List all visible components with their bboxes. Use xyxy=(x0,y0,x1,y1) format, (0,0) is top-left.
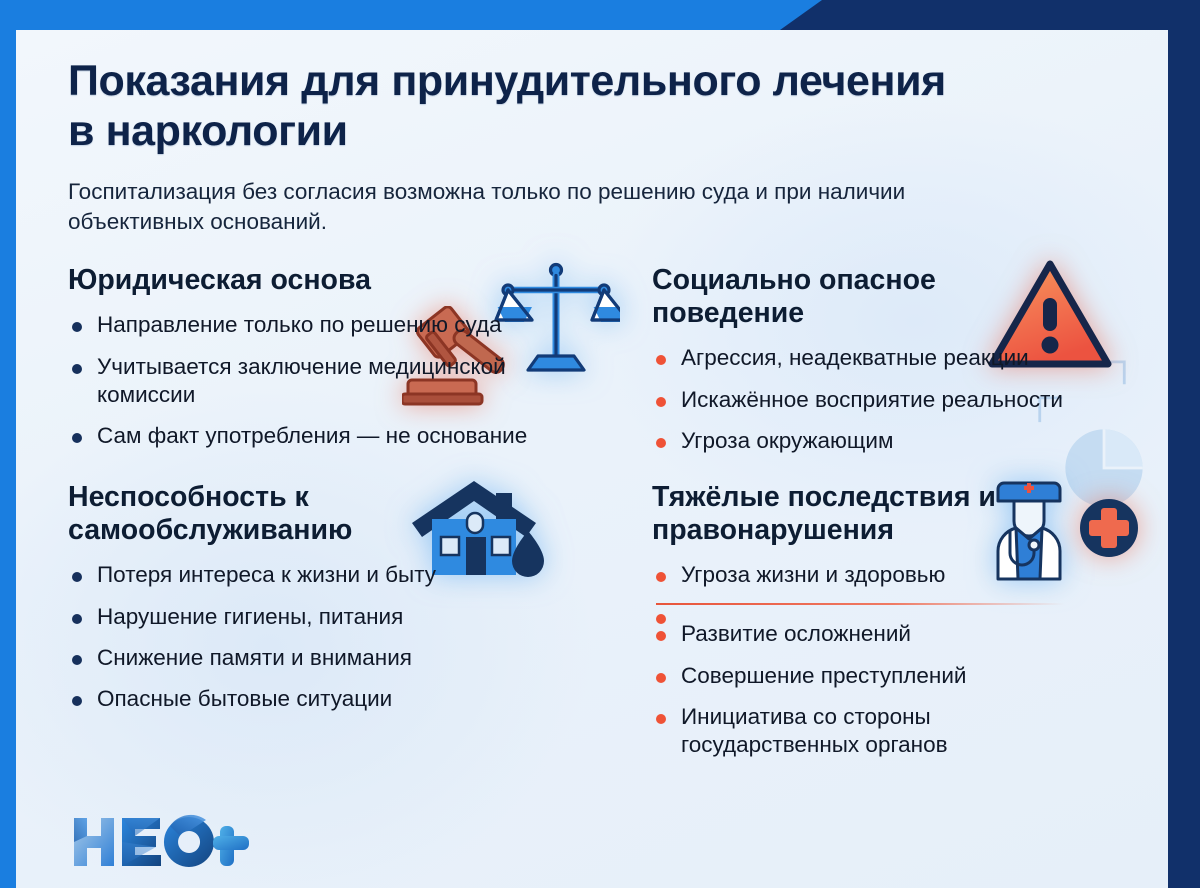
tick-mark-icon xyxy=(1074,516,1096,542)
section-divider xyxy=(652,603,1082,606)
infographic-poster: Показания для принудительного лечения в … xyxy=(0,0,1200,888)
section-bullet-list: Агрессия, неадекватные реакции Искажённо… xyxy=(652,344,1138,455)
brand-logo: НЕО+ xyxy=(70,812,250,872)
list-item: Направление только по решению суда xyxy=(68,311,557,339)
section-bullet-list: Угроза жизни и здоровью Развитие осложне… xyxy=(652,561,1138,759)
list-item: Искажённое восприятие реальности xyxy=(652,386,1111,414)
divider xyxy=(656,603,1064,606)
section-bullet-list: Потеря интереса к жизни и быту Нарушение… xyxy=(68,561,638,713)
page-title: Показания для принудительного лечения в … xyxy=(68,56,968,157)
list-item: Нарушение гигиены, питания xyxy=(68,603,557,631)
list-item: Сам факт употребления — не основание xyxy=(68,422,557,450)
poster-header: Показания для принудительного лечения в … xyxy=(16,30,1168,238)
section-heading: Социально опасное поведение xyxy=(652,264,1052,330)
section-heading: Тяжёлые последствия и правонарушения xyxy=(652,481,1072,547)
section-severe-consequences: Тяжёлые последствия и правонарушения Угр… xyxy=(652,481,1138,759)
list-item: Опасные бытовые ситуации xyxy=(68,685,557,713)
list-item: Инициатива со стороны государственных ор… xyxy=(652,703,1111,760)
page-subtitle: Госпитализация без согласия возможна тол… xyxy=(68,177,998,239)
sections-grid: Юридическая основа Направление только по… xyxy=(16,264,1168,759)
section-bullet-list: Направление только по решению суда Учиты… xyxy=(68,311,638,450)
section-heading: Неспособность к самообслуживанию xyxy=(68,481,488,547)
content-card: Показания для принудительного лечения в … xyxy=(16,30,1168,888)
list-item: Угроза окружающим xyxy=(652,427,1111,455)
list-item: Потеря интереса к жизни и быту xyxy=(68,561,557,589)
section-dangerous-behavior: Социально опасное поведение Агрессия, не… xyxy=(652,264,1138,455)
section-legal-basis: Юридическая основа Направление только по… xyxy=(68,264,638,455)
list-item: Снижение памяти и внимания xyxy=(68,644,557,672)
list-item: Агрессия, неадекватные реакции xyxy=(652,344,1111,372)
section-heading: Юридическая основа xyxy=(68,264,468,297)
section-self-care-inability: Неспособность к самообслуживанию Потеря … xyxy=(68,481,638,759)
list-item: Развитие осложнений xyxy=(652,620,1111,648)
list-item: Совершение преступлений xyxy=(652,662,1111,690)
list-item: Угроза жизни и здоровью xyxy=(652,561,1111,589)
list-item: Учитывается заключение медицинской комис… xyxy=(68,353,557,410)
